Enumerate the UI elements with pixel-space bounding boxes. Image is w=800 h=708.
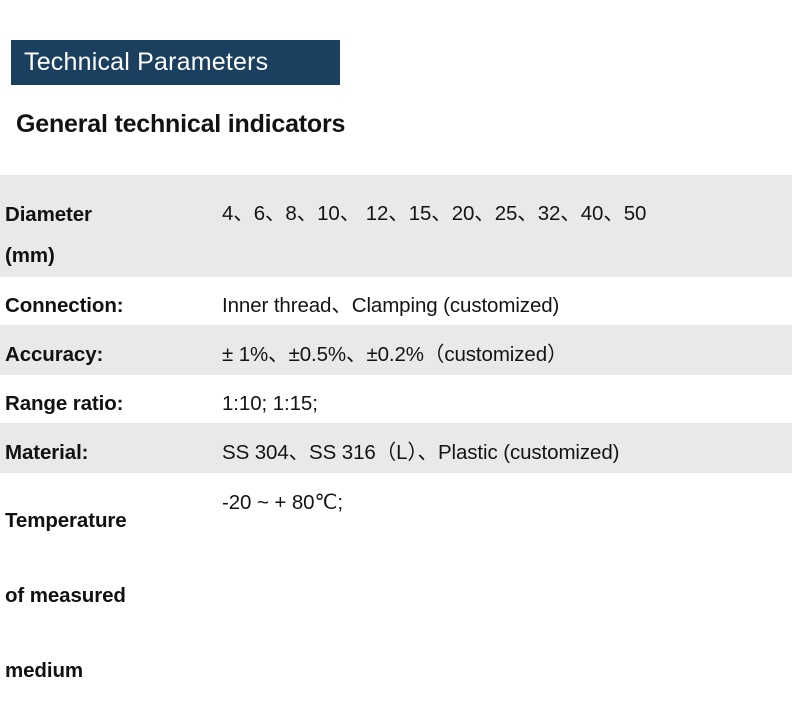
row-label-connection: Connection: (0, 286, 222, 326)
row-label-temperature-line3: medium (5, 659, 83, 682)
row-label-diameter-line2: (mm) (5, 244, 55, 267)
row-label-diameter: Diameter (mm) (0, 194, 222, 276)
row-label-material: Material: (0, 433, 222, 473)
row-label-temperature: Temperature of measured medium (0, 483, 222, 708)
row-value-accuracy: ± 1%、±0.5%、±0.2%（customized） (222, 335, 792, 375)
row-label-temperature-line2: of measured (5, 584, 126, 607)
row-label-diameter-line1: Diameter (5, 203, 92, 226)
row-value-range-ratio: 1:10; 1:15; (222, 384, 792, 424)
banner-title: Technical Parameters (24, 50, 268, 75)
technical-parameters-banner: Technical Parameters (11, 40, 340, 85)
general-technical-indicators-table: Diameter (mm) 4、6、8、10、 12、15、20、25、32、4… (0, 175, 792, 674)
row-label-accuracy: Accuracy: (0, 335, 222, 375)
row-value-diameter: 4、6、8、10、 12、15、20、25、32、40、50 (222, 194, 792, 234)
table-row: Range ratio: 1:10; 1:15; (0, 375, 792, 423)
table-row: Diameter (mm) 4、6、8、10、 12、15、20、25、32、4… (0, 175, 792, 277)
section-heading: General technical indicators (16, 110, 345, 139)
row-value-temperature: -20 ~ + 80℃; (222, 483, 792, 523)
table-row: Temperature of measured medium -20 ~ + 8… (0, 473, 792, 674)
row-label-range-ratio: Range ratio: (0, 384, 222, 424)
row-label-temperature-line1: Temperature (5, 509, 127, 532)
table-row: Connection: Inner thread、Clamping (custo… (0, 277, 792, 325)
table-row: Accuracy: ± 1%、±0.5%、±0.2%（customized） (0, 325, 792, 375)
table-row: Material: SS 304、SS 316（L）、Plastic (cust… (0, 423, 792, 473)
row-value-material: SS 304、SS 316（L）、Plastic (customized) (222, 433, 792, 473)
row-value-connection: Inner thread、Clamping (customized) (222, 286, 792, 326)
